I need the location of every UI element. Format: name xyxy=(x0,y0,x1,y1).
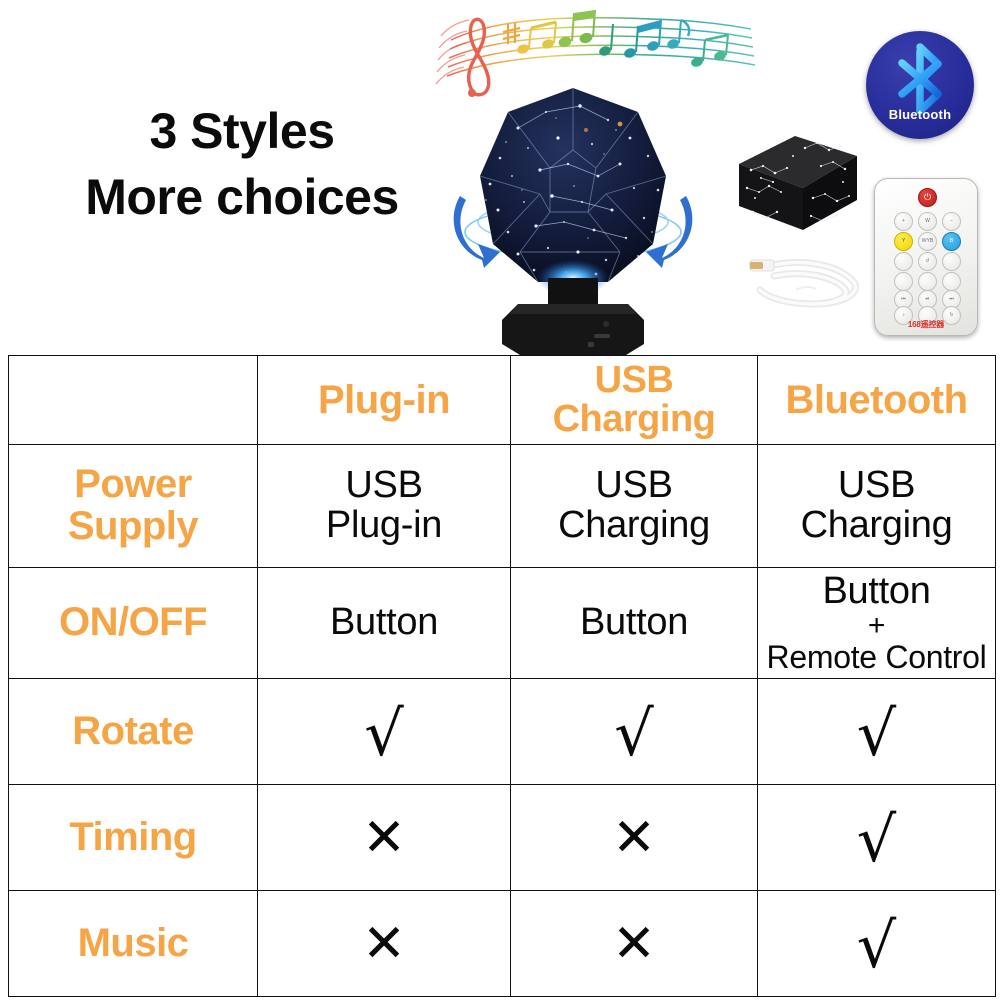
remote-button-w: W xyxy=(918,212,937,231)
row-label-rotate: Rotate xyxy=(9,679,258,785)
cell-line-3: Remote Control xyxy=(758,641,995,674)
cross-mark: ✕ xyxy=(612,918,656,970)
cell-line-1: Button xyxy=(822,570,930,612)
bluetooth-icon xyxy=(866,31,974,139)
cell-rotate-usb-charging: √ xyxy=(511,679,758,785)
cell-onoff-plug-in: Button xyxy=(258,568,511,679)
remote-caption: 168遥控器 xyxy=(874,319,978,330)
check-mark: √ xyxy=(857,809,897,871)
cell-onoff-usb-charging: Button xyxy=(511,568,758,679)
cross-mark: ✕ xyxy=(362,918,406,970)
headline-line-1: 3 Styles xyxy=(149,103,334,159)
remote-button-warm xyxy=(942,252,961,271)
comparison-table: Plug-in USB Charging Bluetooth Power Sup… xyxy=(8,355,996,997)
row-label-power-supply: Power Supply xyxy=(9,445,258,568)
column-header-plug-in: Plug-in xyxy=(258,356,511,445)
row-label-music: Music xyxy=(9,891,258,997)
cell-rotate-plug-in: √ xyxy=(258,679,511,785)
row-label-timing: Timing xyxy=(9,785,258,891)
cell-music-plug-in: ✕ xyxy=(258,891,511,997)
bluetooth-badge-label: Bluetooth xyxy=(866,107,974,122)
row-label-on-off: ON/OFF xyxy=(9,568,258,679)
cell-line-2: Charging xyxy=(801,504,953,546)
power-supply-line-1: Power xyxy=(74,462,192,506)
cross-mark: ✕ xyxy=(612,812,656,864)
column-header-bluetooth-label: Bluetooth xyxy=(758,380,995,421)
table-header-row: Plug-in USB Charging Bluetooth xyxy=(9,356,996,445)
cell-line-2: Plug-in xyxy=(326,504,442,546)
column-header-bluetooth: Bluetooth xyxy=(758,356,996,445)
check-mark: √ xyxy=(364,703,404,765)
column-header-usb-charging: USB Charging xyxy=(511,356,758,445)
table-row: Power Supply USB Plug-in USB Charging US… xyxy=(9,445,996,568)
table-row: Music ✕ ✕ √ xyxy=(9,891,996,997)
check-mark: √ xyxy=(857,915,897,977)
remote-button-wyb: WYB xyxy=(918,232,937,251)
bluetooth-badge: Bluetooth xyxy=(866,31,974,139)
constellation-gift-box-image xyxy=(733,126,863,236)
remote-power-button: ⏻ xyxy=(918,188,937,207)
table-row: ON/OFF Button Button Button + Remote Con… xyxy=(9,568,996,679)
table-row: Rotate √ √ √ xyxy=(9,679,996,785)
usb-line-2: Charging xyxy=(553,398,716,440)
remote-control-image: ⏻ + W − Y WYB B ↺ ⏮ ⏯ ⏭ ♪ ↻ 168遥控器 xyxy=(874,178,978,336)
cell-power-usb-charging: USB Charging xyxy=(511,445,758,568)
cell-line-1: USB xyxy=(838,464,915,506)
cell-timing-usb-charging: ✕ xyxy=(511,785,758,891)
cell-timing-plug-in: ✕ xyxy=(258,785,511,891)
remote-button-bright-up xyxy=(918,272,937,291)
remote-button-30min xyxy=(894,272,913,291)
check-mark: √ xyxy=(614,703,654,765)
cell-music-usb-charging: ✕ xyxy=(511,891,758,997)
cell-timing-bluetooth: √ xyxy=(758,785,996,891)
power-supply-line-2: Supply xyxy=(68,504,198,548)
remote-button-b: B xyxy=(942,232,961,251)
column-header-plug-in-label: Plug-in xyxy=(258,380,510,421)
page-title: 3 Styles More choices xyxy=(52,98,432,230)
cell-line-2: Charging xyxy=(558,504,710,546)
cell-power-plug-in: USB Plug-in xyxy=(258,445,511,568)
remote-button-onoff xyxy=(894,252,913,271)
cell-line-2: + xyxy=(758,611,995,641)
cell-music-bluetooth: √ xyxy=(758,891,996,997)
hero-banner: 3 Styles More choices xyxy=(0,0,1000,355)
table-row: Timing ✕ ✕ √ xyxy=(9,785,996,891)
headline-line-2: More choices xyxy=(52,164,432,230)
cell-rotate-bluetooth: √ xyxy=(758,679,996,785)
cross-mark: ✕ xyxy=(362,812,406,864)
table-corner-cell xyxy=(9,356,258,445)
check-mark: √ xyxy=(857,703,897,765)
remote-button-60min xyxy=(942,272,961,291)
cell-line-1: USB xyxy=(345,464,422,506)
remote-button-plus: + xyxy=(894,212,913,231)
cell-onoff-bluetooth: Button + Remote Control xyxy=(758,568,996,679)
remote-button-minus: − xyxy=(942,212,961,231)
usb-line-1: USB xyxy=(595,359,674,401)
cell-line-1: USB xyxy=(595,464,672,506)
remote-button-y: Y xyxy=(894,232,913,251)
cell-power-bluetooth: USB Charging xyxy=(758,445,996,568)
remote-button-mode: ↺ xyxy=(918,252,937,271)
column-header-usb-charging-label: USB Charging xyxy=(511,361,757,439)
usb-cable-image xyxy=(744,246,866,324)
star-projector-lamp-image xyxy=(448,72,698,355)
